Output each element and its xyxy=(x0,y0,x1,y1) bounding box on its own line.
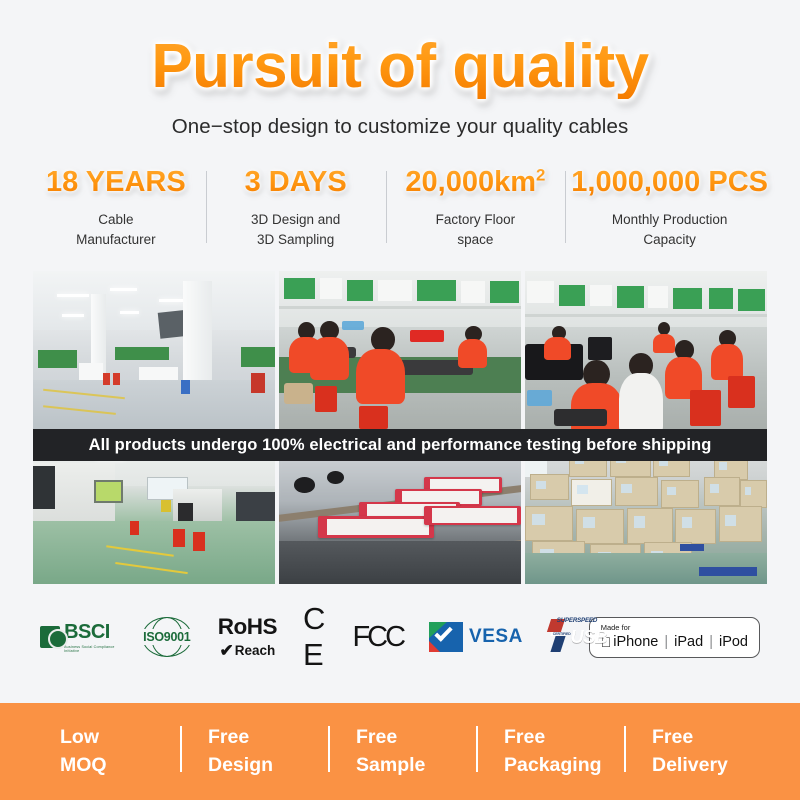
stat-label-line2: Capacity xyxy=(571,230,768,250)
stat-label: Cable Manufacturer xyxy=(32,210,200,249)
stat-item-days: 3 DAYS 3D Design and 3D Sampling xyxy=(206,165,386,249)
service-item-free-packaging: Free Packaging xyxy=(474,724,622,779)
cert-vesa: VESA xyxy=(429,622,523,652)
stat-value: 3 DAYS xyxy=(245,165,347,199)
service-line1: Free xyxy=(652,724,770,752)
service-item-free-design: Free Design xyxy=(178,724,326,779)
services-footer: Low MOQ Free Design Free Sample Free Pac… xyxy=(0,703,800,800)
stats-row: 18 YEARS Cable Manufacturer 3 DAYS 3D De… xyxy=(0,165,800,249)
stat-label-line2: 3D Sampling xyxy=(212,230,380,250)
usb-label: USB xyxy=(571,627,608,648)
cert-fcc: FCC xyxy=(352,621,403,654)
bsci-sublabel: Business Social Compliance Initiative xyxy=(64,645,116,653)
stat-label-line1: 3D Design and xyxy=(212,210,380,230)
cert-ce: C E xyxy=(303,601,326,673)
mfi-device-iphone: iPhone xyxy=(613,634,658,650)
service-item-free-delivery: Free Delivery xyxy=(622,724,770,779)
rohs-reach-label: Reach xyxy=(235,643,276,658)
service-item-low-moq: Low MOQ xyxy=(30,724,178,779)
mfi-device-ipad: iPad xyxy=(674,634,703,650)
usb-certified-label: CERTIFIED xyxy=(553,632,571,636)
page-subtitle: One−stop design to customize your qualit… xyxy=(0,115,800,139)
cert-rohs: RoHS ✔ Reach xyxy=(218,616,277,659)
stat-label: 3D Design and 3D Sampling xyxy=(212,210,380,249)
header-block: Pursuit of quality One−stop design to cu… xyxy=(0,0,800,139)
vesa-label: VESA xyxy=(469,626,523,648)
stat-value: 1,000,000 PCS xyxy=(571,165,768,199)
cert-made-for-apple: Made for  iPhone | iPad | iPod xyxy=(589,617,760,658)
photo-row-top: All products undergo 100% electrical and… xyxy=(33,271,767,435)
rohs-reach-row: ✔ Reach xyxy=(220,642,276,659)
stat-label-line1: Monthly Production xyxy=(571,210,768,230)
stat-value: 20,000km2 xyxy=(405,165,545,199)
mfi-device-ipod: iPod xyxy=(719,634,748,650)
photo-gallery: All products undergo 100% electrical and… xyxy=(33,271,767,584)
service-line2: Sample xyxy=(356,752,474,780)
iso-globe-icon: ISO9001 xyxy=(142,617,192,657)
service-line1: Free xyxy=(208,724,326,752)
service-line1: Low xyxy=(60,724,178,752)
stat-value-superscript: 2 xyxy=(536,165,545,184)
stat-label: Factory Floor space xyxy=(392,210,560,249)
usb-navy-band xyxy=(550,636,565,652)
stat-label-line1: Cable xyxy=(32,210,200,230)
stat-label-line2: space xyxy=(392,230,560,250)
certifications-row: BSCI Business Social Compliance Initiati… xyxy=(0,604,800,670)
testing-banner: All products undergo 100% electrical and… xyxy=(33,429,767,461)
service-line1: Free xyxy=(356,724,474,752)
photo-assembly-workers-cables xyxy=(279,271,521,435)
stat-label-line2: Manufacturer xyxy=(32,230,200,250)
check-icon: ✔ xyxy=(220,642,234,659)
bsci-globe-icon xyxy=(40,626,60,648)
stat-label-line1: Factory Floor xyxy=(392,210,560,230)
iso-label: ISO9001 xyxy=(141,629,192,645)
cert-bsci: BSCI Business Social Compliance Initiati… xyxy=(40,621,116,653)
usb-superspeed-label: SUPERSPEED xyxy=(557,617,597,624)
promo-page: Pursuit of quality One−stop design to cu… xyxy=(0,0,800,800)
cert-iso9001: ISO9001 xyxy=(142,617,192,657)
assembly-stations-scene xyxy=(525,271,767,435)
testing-banner-text: All products undergo 100% electrical and… xyxy=(89,436,712,455)
mfi-separator: | xyxy=(664,634,668,650)
stat-label: Monthly Production Capacity xyxy=(571,210,768,249)
factory-floor-scene xyxy=(33,271,275,435)
service-line2: MOQ xyxy=(60,752,178,780)
service-line1: Free xyxy=(504,724,622,752)
stat-value: 18 YEARS xyxy=(46,165,186,199)
assembly-workers-scene xyxy=(279,271,521,435)
service-item-free-sample: Free Sample xyxy=(326,724,474,779)
photo-assembly-line-stations xyxy=(525,271,767,435)
cert-usb-superspeed: SUPERSPEED CERTIFIED USB xyxy=(549,615,563,659)
rohs-label: RoHS xyxy=(218,616,277,639)
mfi-devices-row:  iPhone | iPad | iPod xyxy=(601,634,748,650)
service-line2: Design xyxy=(208,752,326,780)
bsci-label: BSCI xyxy=(64,621,116,644)
stat-item-years: 18 YEARS Cable Manufacturer xyxy=(26,165,206,249)
mfi-separator: | xyxy=(709,634,713,650)
service-line2: Packaging xyxy=(504,752,622,780)
photo-factory-floor-overview xyxy=(33,271,275,435)
service-line2: Delivery xyxy=(652,752,770,780)
vesa-mark-icon xyxy=(429,622,463,652)
page-title: Pursuit of quality xyxy=(151,34,648,99)
stat-item-capacity: 1,000,000 PCS Monthly Production Capacit… xyxy=(565,165,774,249)
stat-item-floor-space: 20,000km2 Factory Floor space xyxy=(386,165,566,249)
